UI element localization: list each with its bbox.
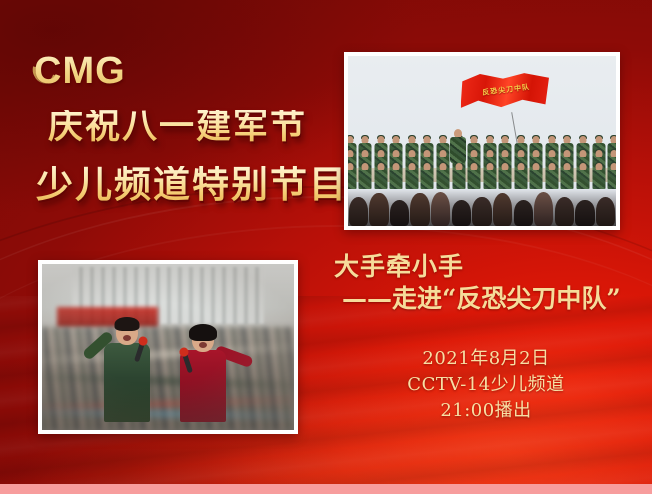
photo-performance [38, 260, 298, 434]
soldier [514, 163, 528, 189]
photo-troops: 反恐尖刀中队 [344, 52, 620, 230]
soldier [436, 163, 450, 189]
cmg-logo: CMG [34, 52, 126, 90]
soldier [545, 163, 559, 189]
soldier [592, 163, 606, 189]
program-title-line-2: ——走进“反恐尖刀中队” [330, 284, 650, 314]
audience-foreground [348, 189, 616, 226]
heading-line-1: 庆祝八一建军节 [48, 110, 307, 145]
soldier [483, 163, 497, 189]
audience-head [410, 193, 429, 226]
broadcast-channel: CCTV-14少儿频道 [330, 372, 642, 398]
audience-head [369, 193, 388, 226]
soldier [498, 163, 512, 189]
broadcast-time: 21:00播出 [330, 398, 642, 424]
audience-head [431, 192, 450, 226]
soldier [576, 163, 590, 189]
motion-blur-veil [42, 264, 294, 430]
soldier [348, 163, 357, 189]
audience-head [534, 192, 553, 226]
program-title-block: 大手牵小手 ——走进“反恐尖刀中队” [330, 252, 650, 313]
audience-head [452, 200, 471, 226]
soldier [561, 163, 575, 189]
soldier [374, 163, 388, 189]
audience-head [575, 200, 594, 226]
audience-head [390, 200, 409, 226]
soldier [607, 163, 616, 189]
audience-head [349, 197, 368, 226]
audience-head [596, 197, 615, 226]
broadcast-date: 2021年8月2日 [330, 346, 642, 372]
program-title-line-1: 大手牵小手 [330, 252, 650, 282]
troop-leader [450, 129, 466, 163]
soldier [358, 163, 372, 189]
heading-line-2: 少儿频道特别节目 [36, 166, 348, 203]
soldier [529, 163, 543, 189]
soldier [420, 163, 434, 189]
audience-head [472, 197, 491, 226]
photo-performance-inner [42, 264, 294, 430]
audience-head [493, 193, 512, 226]
soldier [405, 163, 419, 189]
photo-troops-inner: 反恐尖刀中队 [348, 56, 616, 226]
soldier [389, 163, 403, 189]
soldier [467, 163, 481, 189]
broadcast-info-block: 2021年8月2日 CCTV-14少儿频道 21:00播出 [330, 346, 642, 424]
poster-root: CMG 庆祝八一建军节 少儿频道特别节目 反恐尖刀中队 [0, 0, 652, 494]
soldier [452, 163, 466, 189]
troop-row-front [348, 163, 616, 189]
audience-head [514, 200, 533, 226]
bottom-pink-band [0, 484, 652, 494]
audience-head [555, 197, 574, 226]
